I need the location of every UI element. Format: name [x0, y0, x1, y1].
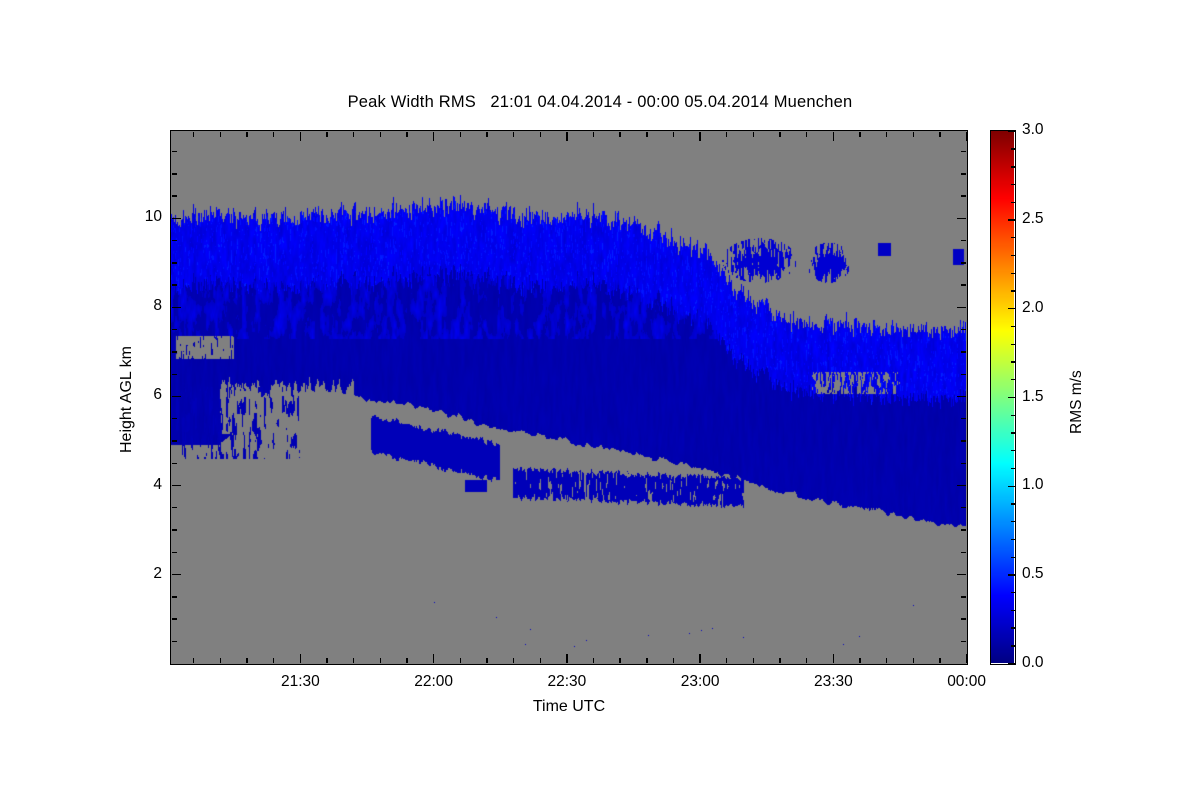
colorbar-minor-tick — [1011, 379, 1015, 380]
x-tick-top — [406, 132, 407, 137]
x-tick-bottom — [513, 658, 514, 663]
x-tick-top — [433, 132, 434, 141]
x-tick-top — [380, 132, 381, 137]
y-tick-right — [961, 596, 966, 597]
colorbar-minor-tick — [1011, 361, 1015, 362]
x-tick-bottom — [460, 658, 461, 663]
colorbar-minor-tick — [1011, 290, 1015, 291]
x-tick-bottom — [646, 658, 647, 663]
colorbar-minor-tick — [1011, 237, 1015, 238]
x-tick-top — [566, 132, 567, 141]
x-tick-top — [353, 132, 354, 137]
colorbar-minor-tick — [1011, 326, 1015, 327]
colorbar-tick-label: 3.0 — [1022, 121, 1044, 139]
y-axis-title: Height AGL km — [118, 345, 136, 452]
y-tick-right — [961, 240, 966, 241]
x-tick-top — [726, 132, 727, 137]
x-tick-bottom — [726, 658, 727, 663]
y-tick-right — [961, 641, 966, 642]
x-tick-top — [779, 132, 780, 137]
colorbar-major-tick — [1008, 663, 1015, 664]
x-tick-top — [246, 132, 247, 137]
heatmap-plot-area[interactable] — [170, 130, 968, 665]
x-tick-top — [646, 132, 647, 137]
y-tick-right — [957, 485, 966, 486]
y-tick-right — [961, 329, 966, 330]
y-tick-left — [172, 440, 177, 441]
x-tick-top — [859, 132, 860, 137]
x-tick-label: 22:00 — [389, 673, 479, 691]
y-tick-right — [961, 463, 966, 464]
x-tick-label: 21:30 — [255, 673, 345, 691]
y-tick-left — [172, 418, 177, 419]
y-tick-left — [172, 641, 177, 642]
x-tick-top — [806, 132, 807, 137]
x-tick-bottom — [673, 658, 674, 663]
x-tick-label: 23:00 — [655, 673, 745, 691]
colorbar-minor-tick — [1011, 503, 1015, 504]
y-tick-left — [172, 552, 177, 553]
y-tick-right — [961, 151, 966, 152]
y-tick-right — [961, 351, 966, 352]
y-tick-left — [172, 240, 177, 241]
x-tick-bottom — [326, 658, 327, 663]
page-title: Peak Width RMS 21:01 04.04.2014 - 00:00 … — [0, 93, 1200, 112]
x-tick-top — [833, 132, 834, 141]
y-tick-right — [957, 218, 966, 219]
colorbar-major-tick — [1008, 486, 1015, 487]
y-tick-right — [961, 552, 966, 553]
y-tick-right — [961, 374, 966, 375]
y-tick-left — [172, 396, 181, 397]
x-tick-top — [540, 132, 541, 137]
colorbar-tick-label: 2.5 — [1022, 210, 1044, 228]
x-tick-bottom — [859, 658, 860, 663]
colorbar-major-tick — [1008, 308, 1015, 309]
x-tick-top — [966, 132, 967, 141]
x-tick-bottom — [753, 658, 754, 663]
y-tick-left — [172, 307, 181, 308]
y-tick-left — [172, 485, 181, 486]
x-tick-label: 23:30 — [788, 673, 878, 691]
x-tick-bottom — [406, 658, 407, 663]
y-tick-right — [961, 507, 966, 508]
x-tick-bottom — [779, 658, 780, 663]
y-tick-left — [172, 262, 177, 263]
x-tick-top — [273, 132, 274, 137]
x-tick-bottom — [273, 658, 274, 663]
colorbar-minor-tick — [1011, 273, 1015, 274]
colorbar-minor-tick — [1011, 557, 1015, 558]
x-tick-top — [513, 132, 514, 137]
colorbar-minor-tick — [1011, 255, 1015, 256]
x-tick-top — [939, 132, 940, 137]
colorbar-minor-tick — [1011, 344, 1015, 345]
colorbar-minor-tick — [1011, 627, 1015, 628]
x-tick-top — [220, 132, 221, 137]
x-tick-top — [913, 132, 914, 137]
heatmap-canvas — [171, 131, 966, 663]
x-tick-bottom — [353, 658, 354, 663]
x-tick-top — [326, 132, 327, 137]
colorbar-minor-tick — [1011, 645, 1015, 646]
x-tick-top — [300, 132, 301, 141]
x-axis-title: Time UTC — [170, 698, 968, 716]
colorbar-major-tick — [1008, 131, 1015, 132]
x-tick-bottom — [566, 654, 567, 663]
x-tick-top — [673, 132, 674, 137]
y-tick-left — [172, 351, 177, 352]
colorbar-minor-tick — [1011, 148, 1015, 149]
colorbar-major-tick — [1008, 574, 1015, 575]
y-tick-right — [961, 418, 966, 419]
y-tick-right — [957, 307, 966, 308]
x-tick-top — [193, 132, 194, 137]
colorbar-tick-label: 1.0 — [1022, 476, 1044, 494]
y-tick-left — [172, 618, 177, 619]
y-tick-label: 4 — [116, 476, 162, 494]
colorbar-minor-tick — [1011, 432, 1015, 433]
x-tick-top — [619, 132, 620, 137]
y-tick-right — [957, 574, 966, 575]
y-tick-right — [961, 173, 966, 174]
y-tick-left — [172, 195, 177, 196]
x-tick-top — [486, 132, 487, 137]
y-tick-right — [961, 262, 966, 263]
x-tick-bottom — [593, 658, 594, 663]
x-tick-bottom — [886, 658, 887, 663]
x-tick-bottom — [486, 658, 487, 663]
x-tick-top — [460, 132, 461, 137]
y-tick-left — [172, 173, 177, 174]
y-tick-right — [961, 529, 966, 530]
y-tick-left — [172, 218, 181, 219]
colorbar-title: RMS m/s — [1068, 370, 1086, 434]
x-tick-bottom — [619, 658, 620, 663]
y-tick-left — [172, 507, 177, 508]
x-tick-bottom — [833, 654, 834, 663]
colorbar-minor-tick — [1011, 539, 1015, 540]
x-tick-top — [699, 132, 700, 141]
y-tick-left — [172, 596, 177, 597]
x-tick-bottom — [806, 658, 807, 663]
x-tick-bottom — [913, 658, 914, 663]
y-tick-left — [172, 529, 177, 530]
x-tick-bottom — [300, 654, 301, 663]
y-tick-left — [172, 151, 177, 152]
y-tick-left — [172, 574, 181, 575]
y-tick-left — [172, 463, 177, 464]
colorbar-minor-tick — [1011, 184, 1015, 185]
y-tick-label: 2 — [116, 565, 162, 583]
x-tick-bottom — [939, 658, 940, 663]
x-tick-top — [753, 132, 754, 137]
y-tick-left — [172, 374, 177, 375]
y-tick-right — [961, 440, 966, 441]
x-tick-bottom — [433, 654, 434, 663]
y-tick-label: 10 — [116, 208, 162, 226]
x-tick-bottom — [193, 658, 194, 663]
colorbar-minor-tick — [1011, 468, 1015, 469]
x-tick-label: 00:00 — [922, 673, 1012, 691]
y-tick-left — [172, 329, 177, 330]
x-tick-bottom — [246, 658, 247, 663]
colorbar-minor-tick — [1011, 166, 1015, 167]
y-tick-right — [961, 284, 966, 285]
y-tick-right — [961, 618, 966, 619]
colorbar-minor-tick — [1011, 202, 1015, 203]
x-tick-bottom — [540, 658, 541, 663]
x-tick-top — [886, 132, 887, 137]
colorbar-tick-label: 1.5 — [1022, 388, 1044, 406]
colorbar-minor-tick — [1011, 415, 1015, 416]
colorbar-tick-label: 2.0 — [1022, 299, 1044, 317]
y-tick-label: 8 — [116, 297, 162, 315]
colorbar-major-tick — [1008, 397, 1015, 398]
x-tick-bottom — [966, 654, 967, 663]
colorbar-tick-label: 0.0 — [1022, 654, 1044, 672]
x-tick-bottom — [220, 658, 221, 663]
figure: Peak Width RMS 21:01 04.04.2014 - 00:00 … — [0, 0, 1200, 800]
colorbar-minor-tick — [1011, 521, 1015, 522]
colorbar-tick-label: 0.5 — [1022, 565, 1044, 583]
x-tick-label: 22:30 — [522, 673, 612, 691]
colorbar-minor-tick — [1011, 450, 1015, 451]
colorbar-minor-tick — [1011, 592, 1015, 593]
x-tick-bottom — [380, 658, 381, 663]
y-tick-right — [957, 396, 966, 397]
y-tick-left — [172, 284, 177, 285]
x-tick-bottom — [699, 654, 700, 663]
colorbar-minor-tick — [1011, 610, 1015, 611]
colorbar-major-tick — [1008, 219, 1015, 220]
y-tick-right — [961, 195, 966, 196]
x-tick-top — [593, 132, 594, 137]
